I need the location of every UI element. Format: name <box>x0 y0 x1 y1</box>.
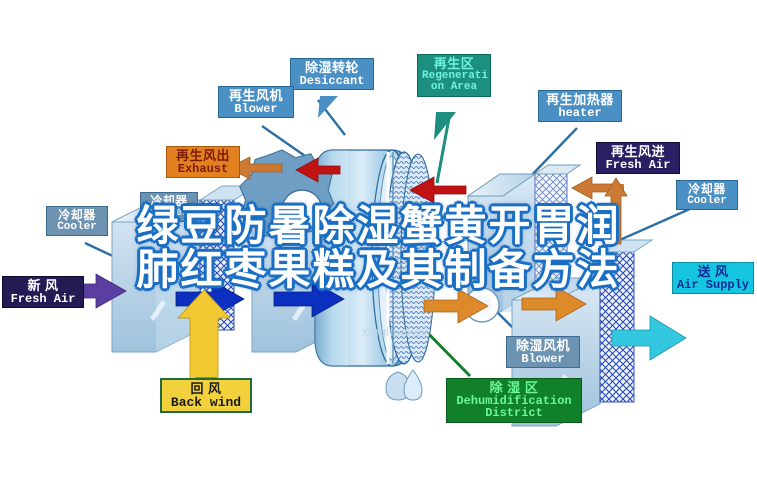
label-cooler-right-en: Cooler <box>681 196 733 208</box>
label-regeneration-area-cn: 再生区 <box>422 57 486 71</box>
label-cooler-right: 冷却器 Cooler <box>676 180 738 210</box>
label-cooler-mid-cn: 冷却器 <box>145 195 193 208</box>
label-regeneration-area-en2: on Area <box>422 82 486 94</box>
label-dehum-blower: 除湿风机 Blower <box>506 336 580 368</box>
label-cooler-left-en: Cooler <box>51 222 103 234</box>
label-regen-exhaust: 再生风出 Exhaust <box>166 146 240 178</box>
condensate-drop <box>386 370 422 400</box>
label-regen-fresh-air-en: Fresh Air <box>601 159 675 172</box>
label-cooler-right-cn: 冷却器 <box>681 183 733 196</box>
label-cooler-mid-en: Cooler <box>145 208 193 220</box>
label-fresh-air-inlet-en: Fresh Air <box>7 293 79 306</box>
label-cooler-left-cn: 冷却器 <box>51 209 103 222</box>
label-dehumidification-district-en2: District <box>451 407 577 420</box>
label-regen-blower-en: Blower <box>223 103 289 116</box>
label-air-supply-cn: 送 风 <box>677 265 749 279</box>
label-fresh-air-inlet: 新 风 Fresh Air <box>2 276 84 308</box>
label-regen-fresh-air: 再生风进 Fresh Air <box>596 142 680 174</box>
machine-artwork: xinghuakeji <box>0 0 757 488</box>
dehumidifier-schematic-image: xinghuakeji 除湿转轮 Desiccant 再生风机 Blower 再… <box>0 0 757 488</box>
label-back-wind: 回 风 Back wind <box>160 378 252 413</box>
label-regeneration-area: 再生区 Regenerati on Area <box>417 54 491 97</box>
label-desiccant-wheel: 除湿转轮 Desiccant <box>290 58 374 90</box>
label-regen-blower-cn: 再生风机 <box>223 89 289 103</box>
label-back-wind-cn: 回 风 <box>166 382 246 396</box>
label-dehumidification-district: 除 湿 区 Dehumidification District <box>446 378 582 423</box>
label-regen-exhaust-cn: 再生风出 <box>171 149 235 163</box>
label-regen-heater-cn: 再生加热器 <box>543 93 617 107</box>
label-dehumidification-district-cn: 除 湿 区 <box>451 381 577 395</box>
label-desiccant-wheel-en: Desiccant <box>295 75 369 88</box>
label-regen-exhaust-en: Exhaust <box>171 163 235 176</box>
label-regen-heater-en: heater <box>543 107 617 120</box>
label-fresh-air-inlet-cn: 新 风 <box>7 279 79 293</box>
label-cooler-mid: 冷却器 Cooler <box>140 192 198 222</box>
label-dehum-blower-cn: 除湿风机 <box>511 339 575 353</box>
label-back-wind-en: Back wind <box>166 396 246 410</box>
label-regen-fresh-air-cn: 再生风进 <box>601 145 675 159</box>
watermark-text: xinghuakeji <box>362 324 427 339</box>
label-air-supply: 送 风 Air Supply <box>672 262 754 294</box>
label-air-supply-en: Air Supply <box>677 279 749 292</box>
label-regen-blower: 再生风机 Blower <box>218 86 294 118</box>
label-regen-heater: 再生加热器 heater <box>538 90 622 122</box>
label-cooler-left: 冷却器 Cooler <box>46 206 108 236</box>
label-desiccant-wheel-cn: 除湿转轮 <box>295 61 369 75</box>
label-dehum-blower-en: Blower <box>511 353 575 366</box>
